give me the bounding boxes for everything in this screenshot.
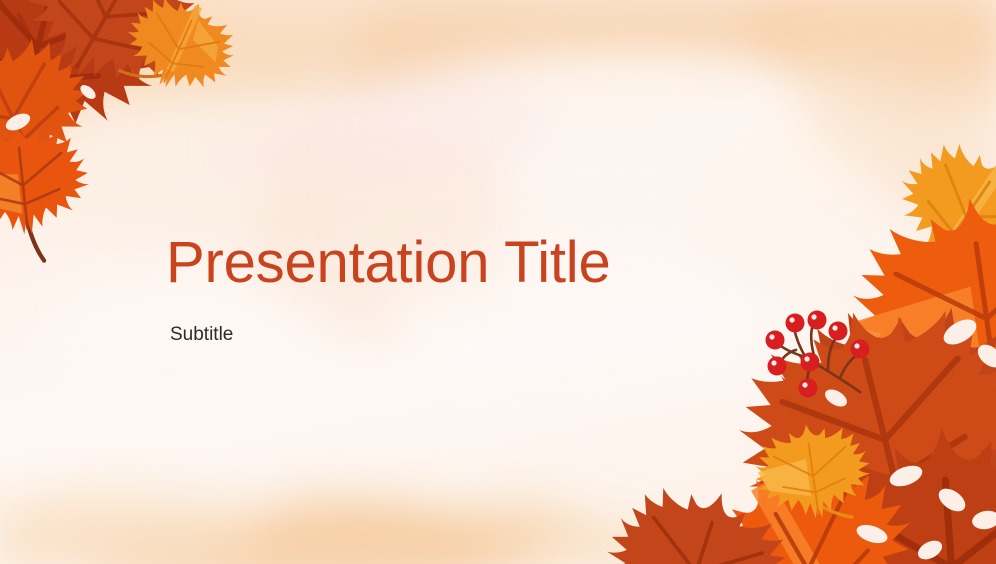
- presentation-title-slide: Presentation Title Subtitle: [0, 0, 996, 564]
- leaf-cluster-top-left: [0, 0, 249, 269]
- leaf-cluster-bottom-right: [589, 120, 996, 564]
- lower-left-orange-maple-leaf: [0, 119, 96, 269]
- autumn-leaf-artwork: [0, 0, 996, 564]
